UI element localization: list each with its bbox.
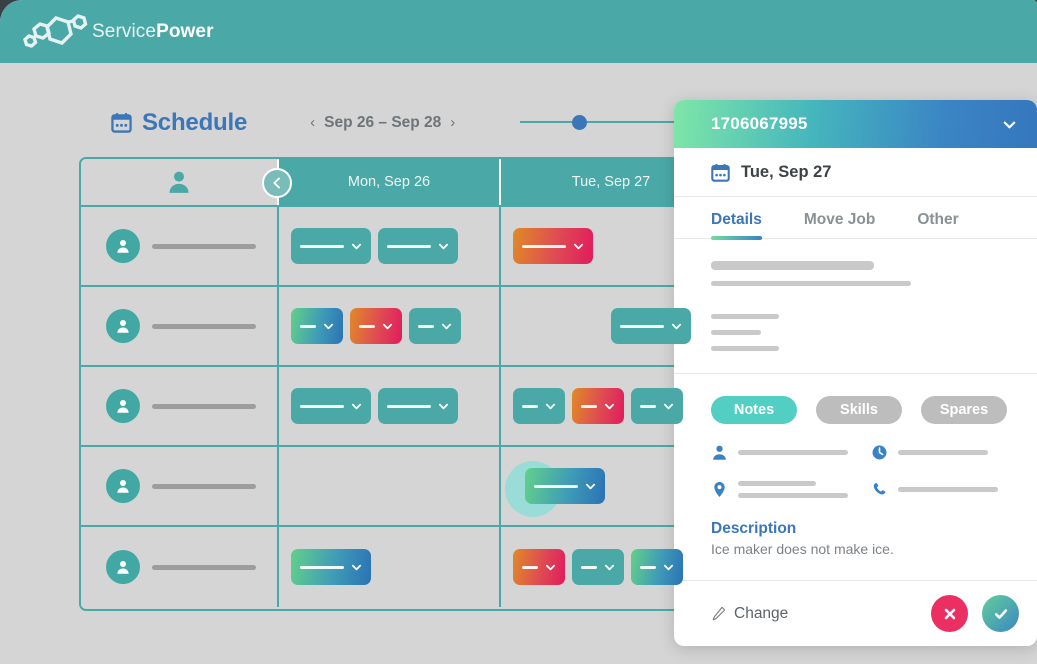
job-chip-label-placeholder xyxy=(418,325,434,328)
job-chip-label-placeholder xyxy=(387,405,431,408)
resource-name-placeholder xyxy=(152,484,256,489)
job-id-label: 1706067995 xyxy=(711,114,808,134)
job-chip-label-placeholder xyxy=(387,245,431,248)
job-detail-header: 1706067995 xyxy=(674,100,1037,148)
job-chip-label-placeholder xyxy=(300,245,344,248)
skeleton-line xyxy=(711,314,779,319)
chevron-down-icon xyxy=(545,401,556,412)
chevron-down-icon xyxy=(604,562,615,573)
job-chip-label-placeholder xyxy=(300,566,344,569)
map-pin-icon xyxy=(711,481,728,498)
skeleton-line xyxy=(738,493,848,498)
job-chip[interactable] xyxy=(291,308,343,344)
info-phone xyxy=(871,481,1031,498)
chevron-down-icon xyxy=(604,401,615,412)
contact-info-grid xyxy=(674,424,1037,498)
tab-details[interactable]: Details xyxy=(711,211,762,238)
person-avatar-icon xyxy=(114,477,132,495)
day-cell[interactable] xyxy=(277,207,499,285)
chevron-down-icon xyxy=(323,321,334,332)
pill-skills[interactable]: Skills xyxy=(816,396,902,424)
job-chip-label-placeholder xyxy=(522,405,538,408)
panel-action-buttons xyxy=(931,595,1019,632)
details-skeleton-block xyxy=(674,239,1037,351)
zoom-slider[interactable] xyxy=(520,113,685,131)
chevron-down-icon xyxy=(438,401,449,412)
chevron-down-icon xyxy=(351,241,362,252)
info-placeholder-lines xyxy=(898,487,998,492)
job-chip[interactable] xyxy=(378,228,458,264)
avatar xyxy=(106,469,140,503)
skeleton-line xyxy=(898,450,988,455)
chevron-down-icon xyxy=(663,401,674,412)
skeleton-line xyxy=(898,487,998,492)
chevron-down-icon xyxy=(351,401,362,412)
job-chip[interactable] xyxy=(631,549,683,585)
panel-footer: Change xyxy=(674,580,1037,646)
pill-notes[interactable]: Notes xyxy=(711,396,797,424)
job-chip[interactable] xyxy=(513,388,565,424)
job-chip-label-placeholder xyxy=(300,325,316,328)
check-icon xyxy=(993,606,1009,622)
chevron-down-icon xyxy=(573,241,584,252)
chevron-down-icon xyxy=(351,562,362,573)
person-avatar-icon xyxy=(114,317,132,335)
job-chip-label-placeholder xyxy=(534,485,578,488)
pill-spares[interactable]: Spares xyxy=(921,396,1007,424)
zoom-slider-track xyxy=(520,121,685,123)
section-toggle-group: Notes Skills Spares xyxy=(674,373,1037,424)
job-chip[interactable] xyxy=(378,388,458,424)
day-cell[interactable] xyxy=(277,447,499,525)
tab-other[interactable]: Other xyxy=(917,211,958,238)
job-chip-label-placeholder xyxy=(581,405,597,408)
change-button-label: Change xyxy=(734,605,788,623)
info-address xyxy=(711,481,871,498)
skeleton-line xyxy=(711,346,779,351)
clock-icon xyxy=(871,444,888,461)
job-detail-panel: 1706067995 Tue, Sep 27 Details Move Job xyxy=(674,100,1037,646)
collapse-resource-column-button[interactable] xyxy=(262,168,292,198)
prev-period-button[interactable]: ‹ xyxy=(310,114,315,131)
job-date-row: Tue, Sep 27 xyxy=(674,148,1037,197)
calendar-icon xyxy=(711,163,730,182)
avatar xyxy=(106,229,140,263)
skeleton-line xyxy=(711,330,761,335)
resource-name-placeholder xyxy=(152,324,256,329)
chevron-down-icon xyxy=(441,321,452,332)
job-chip-label-placeholder xyxy=(522,566,538,569)
skeleton-line xyxy=(711,261,874,270)
avatar xyxy=(106,550,140,584)
job-date-label: Tue, Sep 27 xyxy=(741,163,831,182)
day-cell[interactable] xyxy=(277,367,499,445)
resource-cell[interactable] xyxy=(81,367,277,445)
job-chip-label-placeholder xyxy=(620,325,664,328)
panel-tabs: Details Move Job Other xyxy=(674,197,1037,239)
person-avatar-icon xyxy=(114,397,132,415)
day-cell[interactable] xyxy=(277,287,499,365)
next-period-button[interactable]: › xyxy=(450,114,455,131)
skeleton-line xyxy=(738,450,848,455)
job-chip-label-placeholder xyxy=(581,566,597,569)
job-chip-label-placeholder xyxy=(640,405,656,408)
brand-name-bold: Power xyxy=(156,21,214,42)
description-section: Description Ice maker does not make ice. xyxy=(674,498,1037,557)
job-chip-selected[interactable] xyxy=(525,468,605,504)
person-avatar-icon xyxy=(114,558,132,576)
avatar xyxy=(106,309,140,343)
page-title: Schedule xyxy=(142,109,247,137)
job-chip[interactable] xyxy=(572,388,624,424)
resource-cell[interactable] xyxy=(81,447,277,525)
job-chip[interactable] xyxy=(350,308,402,344)
day-column-header-0[interactable]: Mon, Sep 26 xyxy=(277,159,499,205)
resource-cell[interactable] xyxy=(81,527,277,607)
date-navigator: ‹ Sep 26 – Sep 28 › xyxy=(310,114,455,132)
chevron-down-icon xyxy=(382,321,393,332)
reject-button[interactable] xyxy=(931,595,968,632)
job-chip[interactable] xyxy=(513,228,593,264)
info-placeholder-lines xyxy=(738,481,848,498)
chevron-down-icon xyxy=(585,481,596,492)
resource-name-placeholder xyxy=(152,404,256,409)
brand-name: ServicePower xyxy=(92,21,214,43)
app-root: ServicePower Schedule ‹ Sep 26 – Sep 28 … xyxy=(0,0,1037,664)
servicepower-hexagon-logo xyxy=(22,12,94,52)
job-chip[interactable] xyxy=(572,549,624,585)
schedule-title-group: Schedule xyxy=(111,109,247,137)
person-avatar-icon xyxy=(114,237,132,255)
phone-icon xyxy=(871,481,888,498)
accept-button[interactable] xyxy=(982,595,1019,632)
tab-move-job[interactable]: Move Job xyxy=(804,211,875,238)
resource-name-placeholder xyxy=(152,565,256,570)
chevron-down-icon xyxy=(1002,117,1017,132)
resource-name-placeholder xyxy=(152,244,256,249)
chevron-left-icon xyxy=(271,177,283,189)
job-chip[interactable] xyxy=(291,388,371,424)
resource-cell[interactable] xyxy=(81,207,277,285)
job-chip-label-placeholder xyxy=(359,325,375,328)
job-chip[interactable] xyxy=(291,549,371,585)
top-brand-bar: ServicePower xyxy=(0,0,1037,63)
chevron-down-icon xyxy=(663,562,674,573)
person-icon xyxy=(166,169,192,195)
job-chip[interactable] xyxy=(291,228,371,264)
skeleton-line xyxy=(738,481,816,486)
change-button[interactable]: Change xyxy=(711,605,788,623)
zoom-slider-knob[interactable] xyxy=(572,115,587,130)
calendar-icon xyxy=(111,112,132,133)
panel-collapse-button[interactable] xyxy=(1002,117,1017,132)
chevron-down-icon xyxy=(545,562,556,573)
brand-logo-group[interactable]: ServicePower xyxy=(22,12,214,52)
job-chip[interactable] xyxy=(409,308,461,344)
info-placeholder-lines xyxy=(898,450,988,455)
info-time xyxy=(871,444,1031,461)
chevron-down-icon xyxy=(671,321,682,332)
pencil-icon xyxy=(711,606,726,621)
job-chip-label-placeholder xyxy=(300,405,344,408)
day-cell[interactable] xyxy=(277,527,499,607)
job-chip[interactable] xyxy=(611,308,691,344)
job-chip[interactable] xyxy=(631,388,683,424)
date-range-label: Sep 26 – Sep 28 xyxy=(324,114,441,132)
close-x-icon xyxy=(942,606,958,622)
chevron-down-icon xyxy=(438,241,449,252)
info-placeholder-lines xyxy=(738,450,848,455)
resource-column-header xyxy=(81,159,277,205)
brand-name-light: Service xyxy=(92,21,156,42)
description-text: Ice maker does not make ice. xyxy=(711,541,1037,557)
resource-cell[interactable] xyxy=(81,287,277,365)
person-icon xyxy=(711,444,728,461)
avatar xyxy=(106,389,140,423)
info-customer xyxy=(711,444,871,461)
description-title: Description xyxy=(711,520,1037,538)
skeleton-line xyxy=(711,281,911,286)
job-chip-label-placeholder xyxy=(522,245,566,248)
job-chip-label-placeholder xyxy=(640,566,656,569)
job-chip[interactable] xyxy=(513,549,565,585)
